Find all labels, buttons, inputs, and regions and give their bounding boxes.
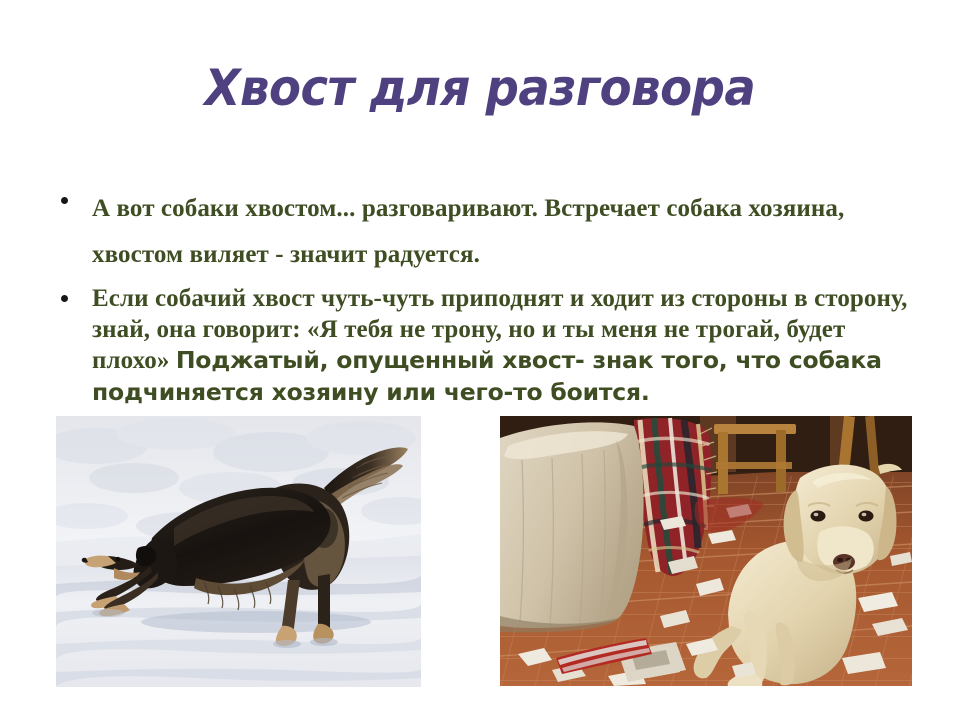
slide-body: А вот собаки хвостом... разговаривают. В… — [52, 186, 918, 408]
photo-right-graphic — [500, 416, 912, 686]
photo-left-graphic — [56, 416, 421, 687]
page-title: Хвост для разговора — [34, 58, 927, 118]
list-item: А вот собаки хвостом... разговаривают. В… — [52, 186, 918, 278]
photo-labrador-guilty-mess — [500, 416, 912, 686]
presentation-slide: Хвост для разговора А вот собаки хвостом… — [0, 0, 960, 720]
bullet-text-2-sans: Поджатый, опущенный хвост- знак того, чт… — [92, 346, 882, 406]
list-item: Если собачий хвост чуть-чуть приподнят и… — [52, 284, 918, 408]
bullet-dot-icon — [61, 295, 68, 302]
bullet-dot-icon — [61, 197, 68, 204]
photo-dog-play-bow-snow — [56, 416, 421, 687]
bullet-text-1: А вот собаки хвостом... разговаривают. В… — [92, 195, 844, 268]
